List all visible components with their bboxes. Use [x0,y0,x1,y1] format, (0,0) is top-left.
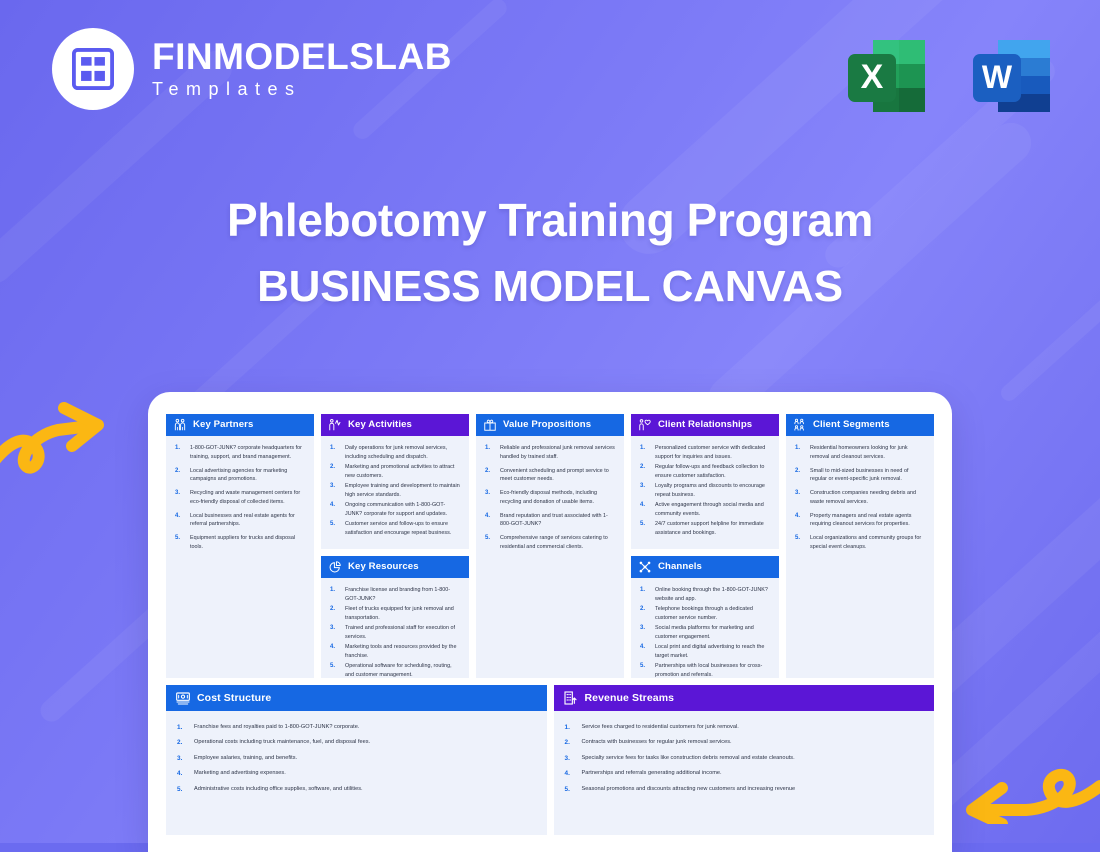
block-title: Value Propositions [503,419,591,430]
list-item: Trained and professional staff for execu… [329,624,461,642]
block-revenue-streams[interactable]: Revenue Streams Service fees charged to … [554,685,935,835]
block-header: Key Activities [321,414,469,436]
block-cost-structure[interactable]: Cost Structure Franchise fees and royalt… [166,685,547,835]
list-item: Franchise fees and royalties paid to 1-8… [176,723,537,731]
person-activity-icon [328,418,342,432]
list-item: Local businesses and real estate agents … [174,512,306,530]
list-item: Franchise license and branding from 1-80… [329,586,461,604]
excel-icon: X [840,32,933,120]
canvas-column-activities: Key Activities Daily operations for junk… [321,414,469,678]
list-item: Local advertising agencies for marketing… [174,467,306,485]
brand-logo-block: FINMODELSLAB Templates [52,28,452,110]
logo-badge [52,28,134,110]
word-icon: W [965,32,1058,120]
brand-tagline: Templates [152,79,452,100]
list-item: Comprehensive range of services catering… [484,534,616,552]
canvas-bottom-grid: Cost Structure Franchise fees and royalt… [166,685,934,835]
block-title: Revenue Streams [585,692,675,704]
block-items: 1-800-GOT-JUNK? corporate headquarters f… [166,436,314,565]
list-item: Fleet of trucks equipped for junk remova… [329,605,461,623]
block-header: Revenue Streams [554,685,935,711]
block-items: Daily operations for junk removal servic… [321,436,469,547]
block-value-propositions[interactable]: Value Propositions Reliable and professi… [476,414,624,678]
list-item: Ongoing communication with 1-800-GOT-JUN… [329,501,461,519]
building-arrow-icon [563,690,579,706]
block-items: Service fees charged to residential cust… [554,711,935,812]
page-header: FINMODELSLAB Templates X [0,0,1100,160]
block-items: Franchise fees and royalties paid to 1-8… [166,711,547,812]
block-items: Reliable and professional junk removal s… [476,436,624,565]
block-items: Franchise license and branding from 1-80… [321,578,469,678]
list-item: Equipment suppliers for trucks and dispo… [174,534,306,552]
block-title: Key Resources [348,561,419,572]
list-item: Seasonal promotions and discounts attrac… [564,785,925,793]
list-item: 1-800-GOT-JUNK? corporate headquarters f… [174,444,306,462]
list-item: Active engagement through social media a… [639,501,771,519]
people-group-icon [793,418,807,432]
office-format-icons: X W [840,32,1058,120]
list-item: Employee training and development to mai… [329,482,461,500]
list-item: Eco-friendly disposal methods, including… [484,489,616,507]
block-client-relationships[interactable]: Client Relationships Personalized custom… [631,414,779,549]
block-client-segments[interactable]: Client Segments Residential homeowners l… [786,414,934,678]
block-key-activities[interactable]: Key Activities Daily operations for junk… [321,414,469,549]
block-key-resources[interactable]: Key Resources Franchise license and bran… [321,556,469,678]
list-item: Residential homeowners looking for junk … [794,444,926,462]
list-item: Operational software for scheduling, rou… [329,662,461,678]
canvas-top-grid: Key Partners 1-800-GOT-JUNK? corporate h… [166,414,934,678]
brand-name: FINMODELSLAB [152,38,452,76]
block-title: Cost Structure [197,692,271,704]
list-item: Telephone bookings through a dedicated c… [639,605,771,623]
grid-squares-icon [72,48,114,90]
list-item: Brand reputation and trust associated wi… [484,512,616,530]
list-item: Online booking through the 1-800-GOT-JUN… [639,586,771,604]
canvas-column-relationships: Client Relationships Personalized custom… [631,414,779,678]
list-item: Local print and digital advertising to r… [639,643,771,661]
list-item: 24/7 customer support helpline for immed… [639,520,771,538]
list-item: Administrative costs including office su… [176,785,537,793]
list-item: Personalized customer service with dedic… [639,444,771,462]
list-item: Customer service and follow-ups to ensur… [329,520,461,538]
pie-chart-icon [328,560,342,574]
block-header: Client Relationships [631,414,779,436]
list-item: Marketing and promotional activities to … [329,463,461,481]
list-item: Specialty service fees for tasks like co… [564,754,925,762]
block-channels[interactable]: Channels Online booking through the 1-80… [631,556,779,678]
title-section: Phlebotomy Training Program BUSINESS MOD… [0,193,1100,314]
arrow-squiggle-left-icon [944,744,1100,829]
list-item: Marketing tools and resources provided b… [329,643,461,661]
list-item: Social media platforms for marketing and… [639,624,771,642]
list-item: Property managers and real estate agents… [794,512,926,530]
brand-text: FINMODELSLAB Templates [152,38,452,100]
block-header: Client Segments [786,414,934,436]
list-item: Contracts with businesses for regular ju… [564,738,925,746]
money-bill-icon [175,690,191,706]
block-title: Channels [658,561,702,572]
list-item: Daily operations for junk removal servic… [329,444,461,462]
list-item: Recycling and waste management centers f… [174,489,306,507]
canvas-column-value: Value Propositions Reliable and professi… [476,414,624,678]
list-item: Employee salaries, training, and benefit… [176,754,537,762]
block-header: Key Partners [166,414,314,436]
list-item: Local organizations and community groups… [794,534,926,552]
arrow-squiggle-right-icon [0,400,116,495]
list-item: Operational costs including truck mainte… [176,738,537,746]
two-people-icon [173,418,187,432]
block-header: Value Propositions [476,414,624,436]
block-title: Client Relationships [658,419,752,430]
business-model-canvas: Key Partners 1-800-GOT-JUNK? corporate h… [148,392,952,852]
list-item: Regular follow-ups and feedback collecti… [639,463,771,481]
block-items: Online booking through the 1-800-GOT-JUN… [631,578,779,678]
list-item: Construction companies needing debris an… [794,489,926,507]
svg-text:W: W [982,59,1013,95]
block-items: Residential homeowners looking for junk … [786,436,934,565]
list-item: Partnerships with local businesses for c… [639,662,771,678]
block-title: Key Partners [193,419,253,430]
list-item: Loyalty programs and discounts to encour… [639,482,771,500]
block-key-partners[interactable]: Key Partners 1-800-GOT-JUNK? corporate h… [166,414,314,678]
list-item: Partnerships and referrals generating ad… [564,769,925,777]
list-item: Service fees charged to residential cust… [564,723,925,731]
block-header: Cost Structure [166,685,547,711]
svg-text:X: X [861,58,884,96]
canvas-column-segments: Client Segments Residential homeowners l… [786,414,934,678]
block-header: Channels [631,556,779,578]
list-item: Small to mid-sized businesses in need of… [794,467,926,485]
list-item: Reliable and professional junk removal s… [484,444,616,462]
network-nodes-icon [638,560,652,574]
block-title: Client Segments [813,419,890,430]
page-subtitle: BUSINESS MODEL CANVAS [0,261,1100,314]
canvas-column-partners: Key Partners 1-800-GOT-JUNK? corporate h… [166,414,314,678]
page-title: Phlebotomy Training Program [0,193,1100,247]
gift-icon [483,418,497,432]
block-title: Key Activities [348,419,412,430]
block-header: Key Resources [321,556,469,578]
block-items: Personalized customer service with dedic… [631,436,779,547]
person-heart-icon [638,418,652,432]
list-item: Convenient scheduling and prompt service… [484,467,616,485]
list-item: Marketing and advertising expenses. [176,769,537,777]
